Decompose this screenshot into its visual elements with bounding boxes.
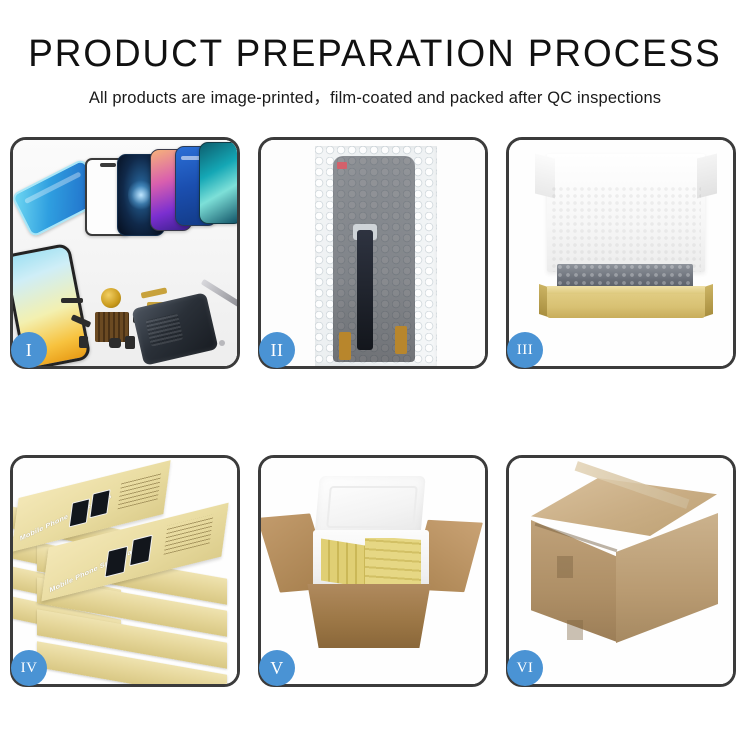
teal-phone-icon — [199, 142, 237, 224]
step-badge-5: V — [259, 650, 295, 686]
process-step-panel-4[interactable]: Mobile Phone Spare Parts Mobile Phone Sp… — [10, 455, 240, 687]
screw-b-icon — [219, 340, 225, 346]
vibrator-icon — [109, 338, 121, 348]
battery-connector-icon — [125, 336, 135, 349]
process-step-panel-5[interactable]: V — [258, 455, 488, 687]
step-2-image — [261, 140, 485, 366]
screen-flex-cable-icon — [357, 230, 373, 350]
gold-contact-left-icon — [339, 332, 351, 360]
page-header: PRODUCT PREPARATION PROCESS All products… — [0, 0, 750, 108]
step-4-image: Mobile Phone Spare Parts Mobile Phone Sp… — [13, 458, 237, 684]
lid-phone-image-a — [69, 498, 90, 527]
step-3-image — [509, 140, 733, 366]
yellow-box-tray-icon — [547, 290, 705, 318]
inner-boxes-right — [365, 538, 421, 586]
inner-boxes-left — [321, 539, 365, 586]
box-tray-rim — [547, 286, 705, 294]
inner-boxes-group — [321, 538, 421, 586]
box-stack: Mobile Phone Spare Parts Mobile Phone Sp… — [13, 474, 237, 674]
page-subtitle: All products are image-printed，film-coat… — [0, 84, 750, 108]
gold-contact-right-icon — [395, 326, 407, 354]
earpiece-part-icon — [61, 298, 83, 303]
lid-spec-lines-top — [118, 472, 162, 509]
carton-tab-upper — [557, 556, 573, 578]
carton-body-icon — [299, 584, 439, 648]
step-badge-2: II — [259, 332, 295, 368]
process-step-panel-6[interactable]: VI — [506, 455, 736, 687]
lid-phone-image-b — [89, 489, 110, 518]
process-step-panel-2[interactable]: II — [258, 137, 488, 369]
red-label-icon — [337, 162, 347, 169]
step-badge-4: IV — [11, 650, 47, 686]
camera-module-icon — [79, 336, 88, 348]
foam-lid-icon — [314, 476, 425, 538]
step-badge-1: I — [11, 332, 47, 368]
lid-phone-image-c — [104, 546, 128, 578]
speaker-part-icon — [101, 288, 121, 308]
step-1-image — [13, 140, 237, 366]
lid-phone-image-d — [129, 535, 153, 567]
process-step-panel-3[interactable]: III — [506, 137, 736, 369]
step-6-image — [509, 458, 733, 684]
process-step-panel-1[interactable]: I — [10, 137, 240, 369]
page-title: PRODUCT PREPARATION PROCESS — [11, 32, 739, 76]
step-badge-6: VI — [507, 650, 543, 686]
process-step-grid: I II III — [10, 137, 740, 687]
lid-spec-lines-second — [164, 514, 214, 554]
step-badge-3: III — [507, 332, 543, 368]
step-5-image — [261, 458, 485, 684]
carton-tab-lower — [567, 620, 583, 640]
foam-texture — [551, 186, 701, 272]
